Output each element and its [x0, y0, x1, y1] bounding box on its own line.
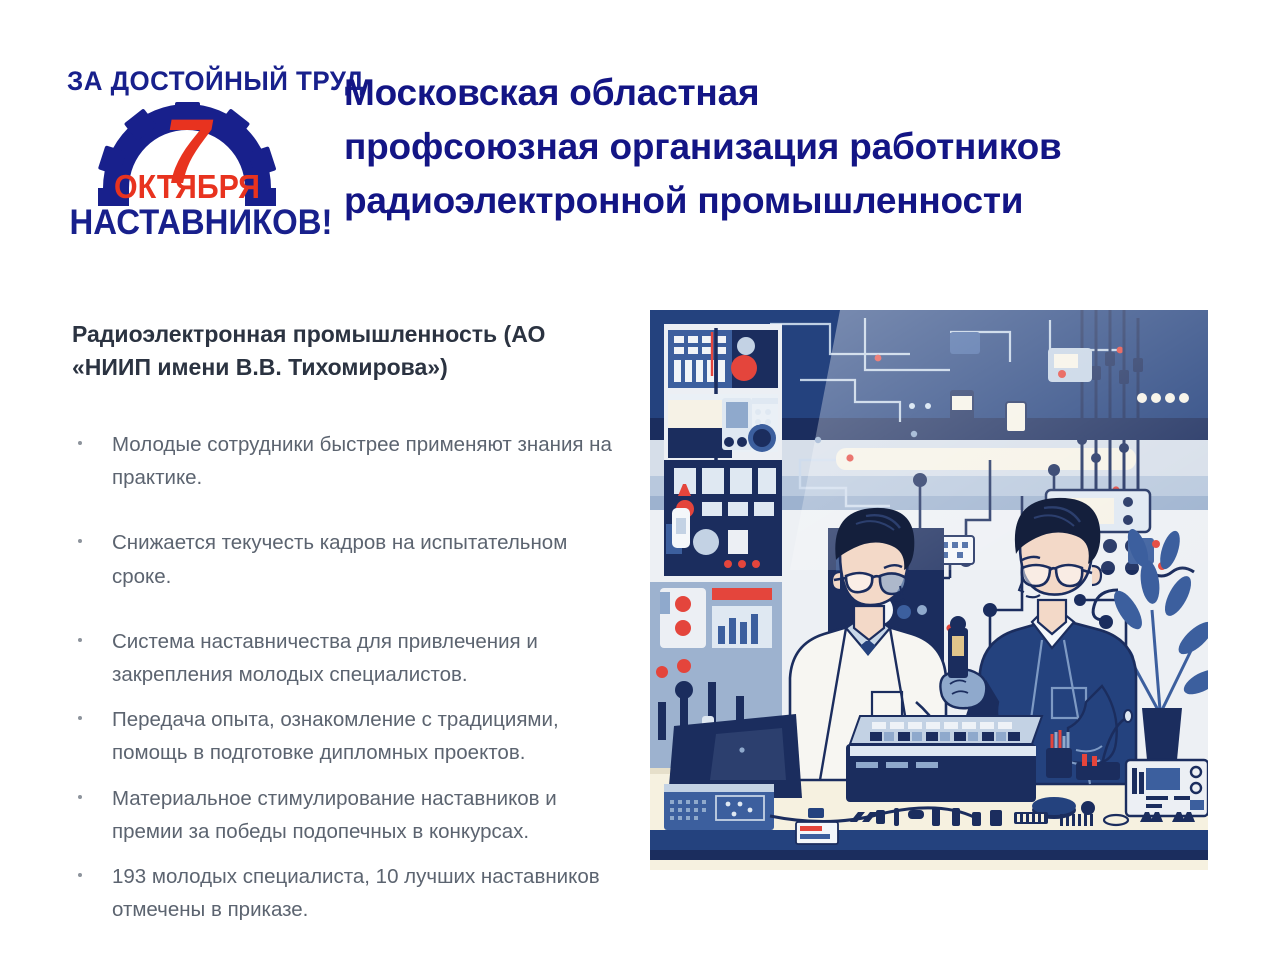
page-title: Московская областная профсоюзная организ… [344, 66, 1234, 228]
list-item-text: Материальное стимулирование наставников … [112, 782, 632, 848]
bullet-list: Молодые сотрудники быстрее применяют зна… [72, 428, 632, 938]
list-item: 193 молодых специалиста, 10 лучших наста… [72, 860, 632, 926]
bullet-dot-icon [78, 716, 82, 720]
list-item: Передача опыта, ознакомление с традициям… [72, 703, 632, 769]
section-heading-line-2: «НИИП имени В.В. Тихомирова») [72, 351, 617, 384]
section-heading: Радиоэлектронная промышленность (АО «НИИ… [72, 318, 617, 383]
bullet-dot-icon [78, 539, 82, 543]
list-item: Молодые сотрудники быстрее применяют зна… [72, 428, 632, 494]
list-item-text: 193 молодых специалиста, 10 лучших наста… [112, 860, 632, 926]
list-item: Снижается текучесть кадров на испытатель… [72, 526, 632, 592]
list-item-text: Передача опыта, ознакомление с традициям… [112, 703, 632, 769]
laboratory-illustration [650, 310, 1208, 870]
page-title-line-1: Московская областная [344, 66, 1234, 120]
bullet-dot-icon [78, 441, 82, 445]
list-item-text: Молодые сотрудники быстрее применяют зна… [112, 428, 632, 494]
slide: ЗА ДОСТОЙНЫЙ ТРУД [0, 0, 1280, 960]
bullet-dot-icon [78, 873, 82, 877]
section-heading-line-1: Радиоэлектронная промышленность (АО [72, 318, 617, 351]
page-title-line-2: профсоюзная организация работников [344, 120, 1234, 174]
list-item-text: Система наставничества для привлечения и… [112, 625, 632, 691]
list-item-text: Снижается текучесть кадров на испытатель… [112, 526, 632, 592]
logo-bottom-text: НАСТАВНИКОВ! [70, 203, 305, 243]
page-title-line-3: радиоэлектронной промышленности [344, 174, 1234, 228]
logo-top-text: ЗА ДОСТОЙНЫЙ ТРУД [67, 66, 307, 97]
bullet-dot-icon [78, 795, 82, 799]
organization-logo: ЗА ДОСТОЙНЫЙ ТРУД [62, 58, 312, 250]
list-item: Материальное стимулирование наставников … [72, 782, 632, 848]
list-item: Система наставничества для привлечения и… [72, 625, 632, 691]
bullet-dot-icon [78, 638, 82, 642]
logo-month-text: ОКТЯБРЯ [72, 168, 302, 206]
